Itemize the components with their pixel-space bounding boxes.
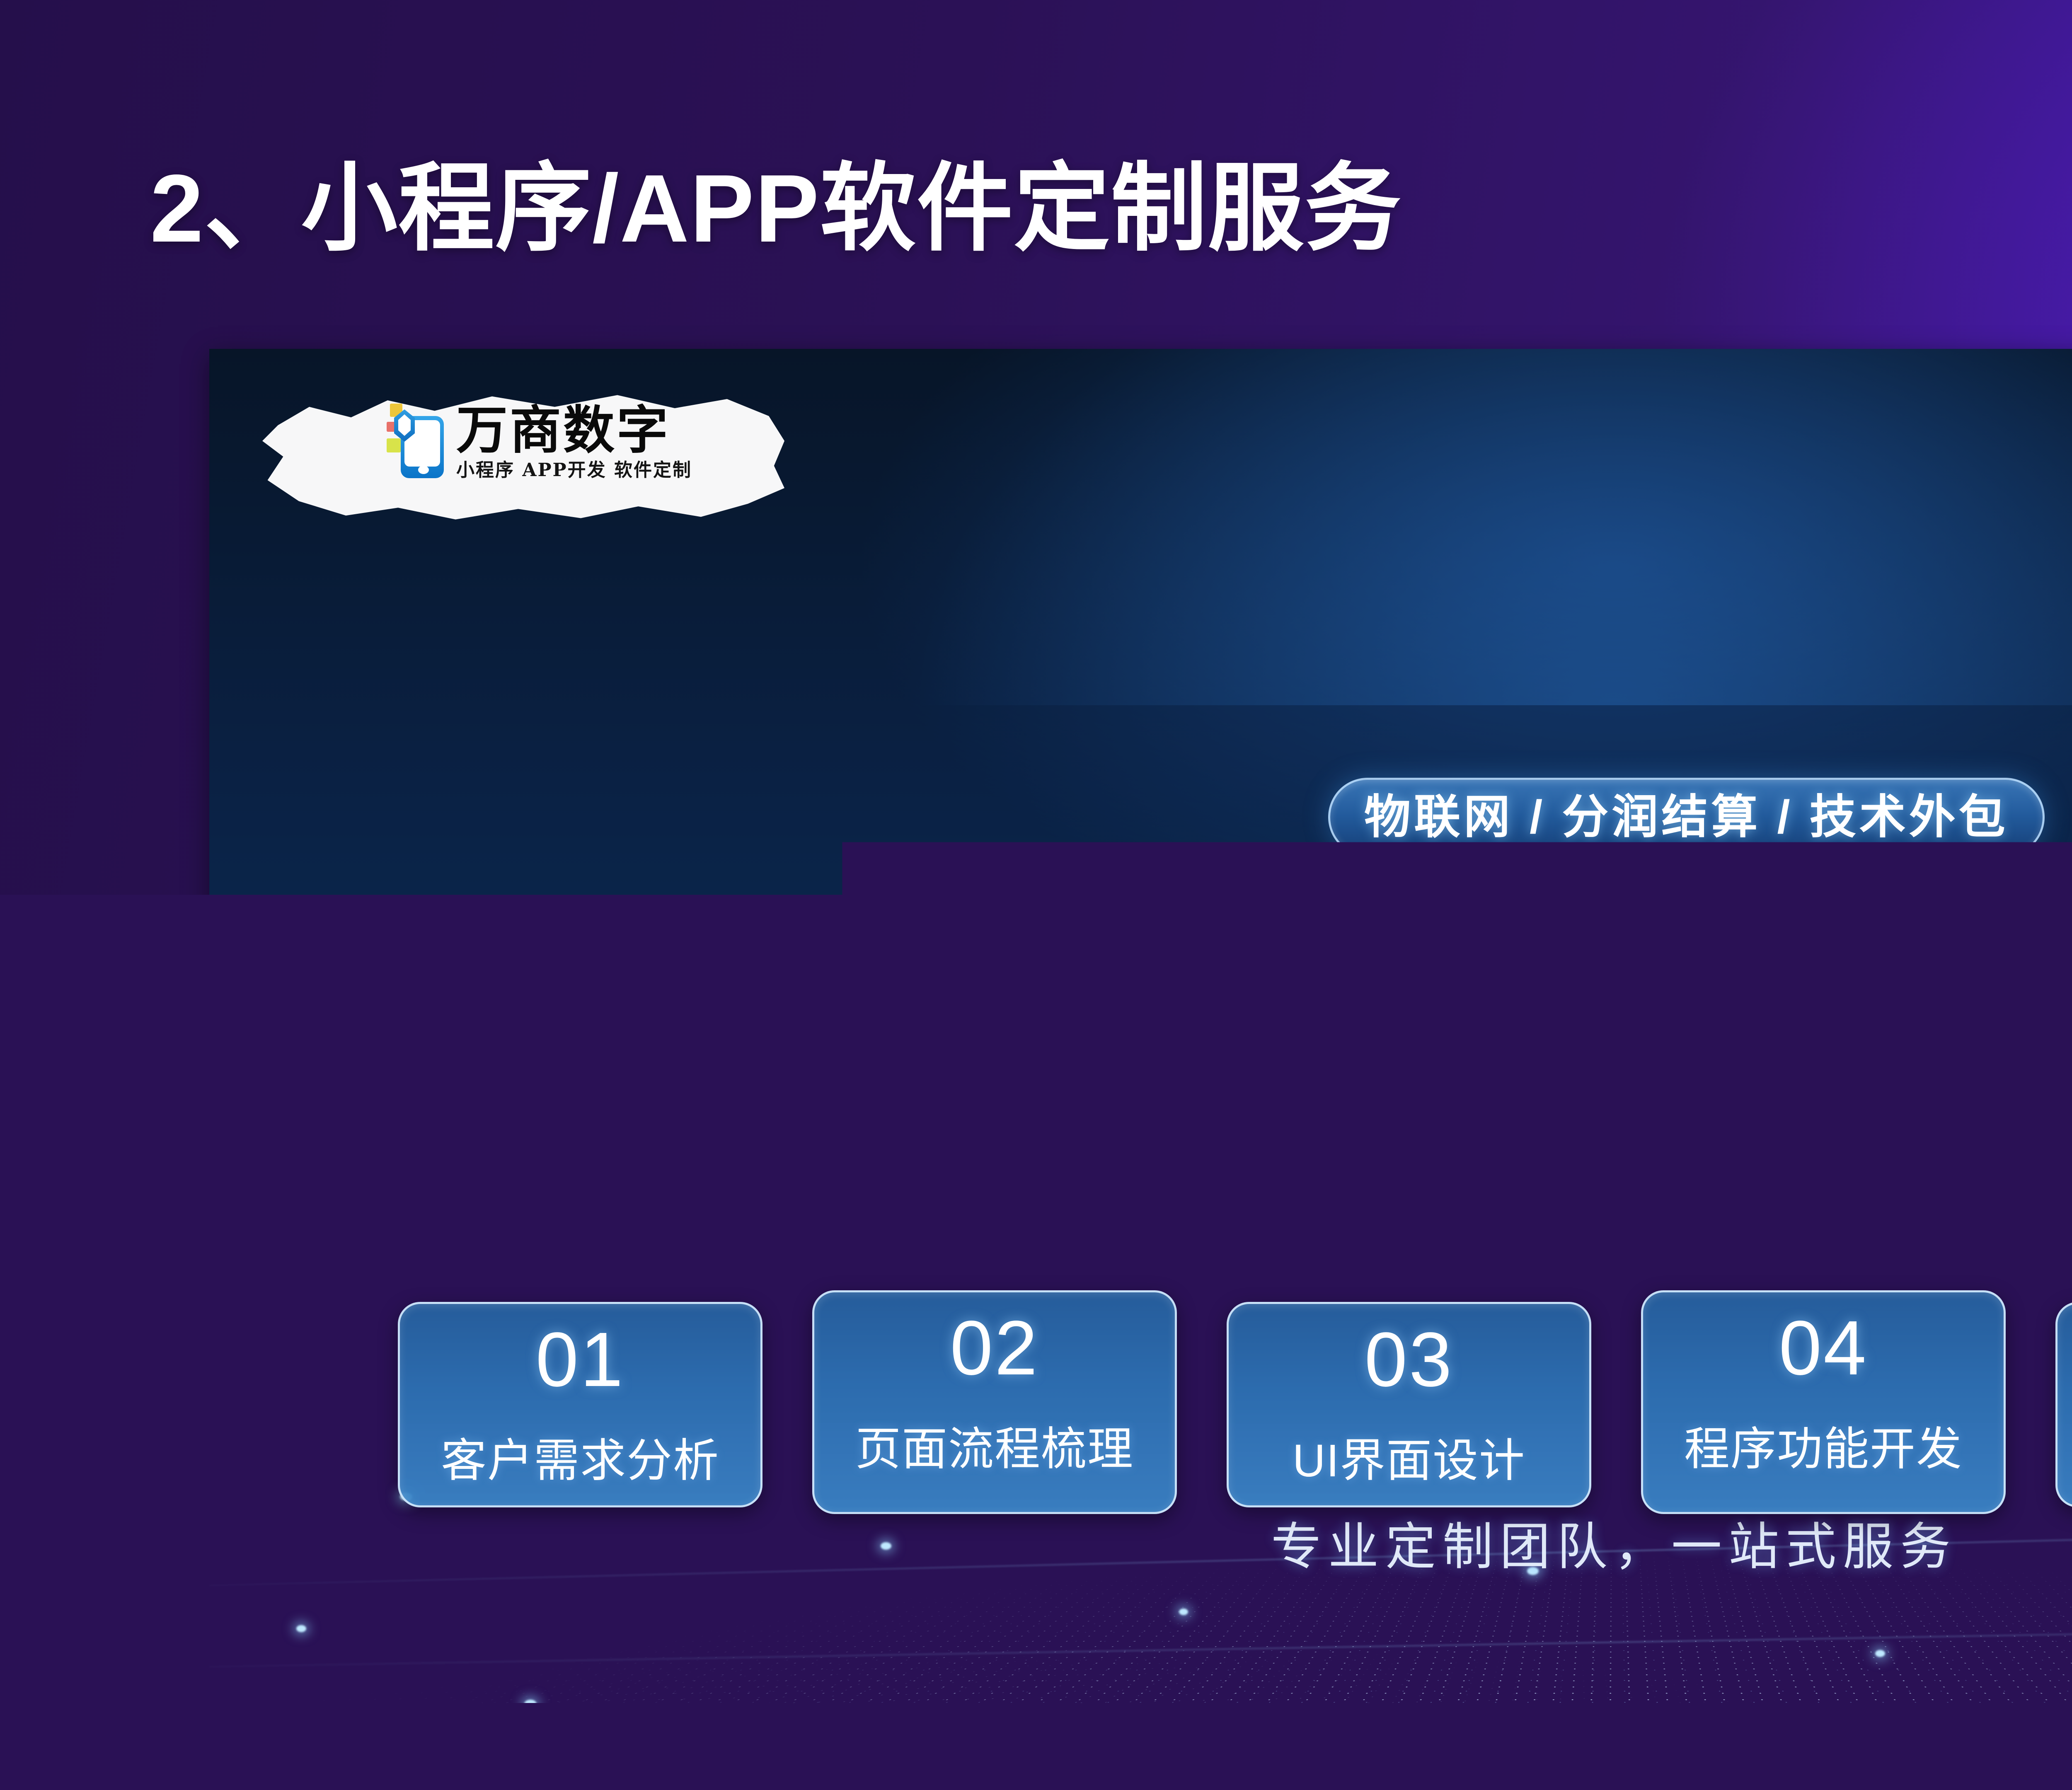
service-badge: 物联网 / 分润结算 / 技术外包: [1328, 778, 2045, 856]
step-label: 客户需求分析: [441, 1438, 719, 1484]
step-number: 03: [1365, 1321, 1454, 1398]
step-card-05[interactable]: 05 项目审核发布: [2055, 1302, 2072, 1507]
step-card-01[interactable]: 01 客户需求分析: [398, 1302, 762, 1507]
banner-logo-content: 万商数字 小程序 APP开发 软件定制: [387, 404, 692, 481]
banner-brand-subtitle: 小程序 APP开发 软件定制: [456, 461, 692, 479]
step-label: UI界面设计: [1293, 1438, 1525, 1484]
banner-brush-logo: 万商数字 小程序 APP开发 软件定制: [262, 381, 793, 535]
step-label: 页面流程梳理: [855, 1427, 1134, 1472]
page-title: 2、小程序/APP软件定制服务: [150, 161, 1402, 257]
banner-halo-glow: [910, 349, 2072, 705]
process-steps-row: 01 客户需求分析 02 页面流程梳理 03 UI界面设计 04 程序功能开发 …: [398, 1302, 2072, 1617]
promo-banner: 万商数字 小程序 APP开发 软件定制 物联网 / 分润结算 / 技术外包 小程…: [209, 349, 2072, 1703]
banner-brand-name: 万商数字: [456, 405, 692, 456]
banner-brand-mark-icon: [387, 404, 449, 481]
step-number: 01: [536, 1321, 625, 1398]
banner-logo-text: 万商数字 小程序 APP开发 软件定制: [456, 405, 692, 479]
banner-headline-primary: 小程序 APP开发: [209, 946, 2072, 1124]
step-number: 04: [1779, 1310, 1868, 1387]
step-card-04[interactable]: 04 程序功能开发: [1641, 1290, 2006, 1514]
spark-dot: [296, 1625, 306, 1632]
step-number: 02: [950, 1310, 1039, 1387]
step-card-03[interactable]: 03 UI界面设计: [1227, 1302, 1591, 1507]
banner-logo-square-green-icon: [387, 438, 401, 452]
step-card-02[interactable]: 02 页面流程梳理: [812, 1290, 1177, 1514]
spark-dot: [1875, 1650, 1885, 1657]
banner-logo-home-dot-icon: [418, 466, 429, 474]
slide-root: 2、小程序/APP软件定制服务 万商数: [0, 0, 2072, 1790]
step-label: 程序功能开发: [1684, 1427, 1963, 1472]
